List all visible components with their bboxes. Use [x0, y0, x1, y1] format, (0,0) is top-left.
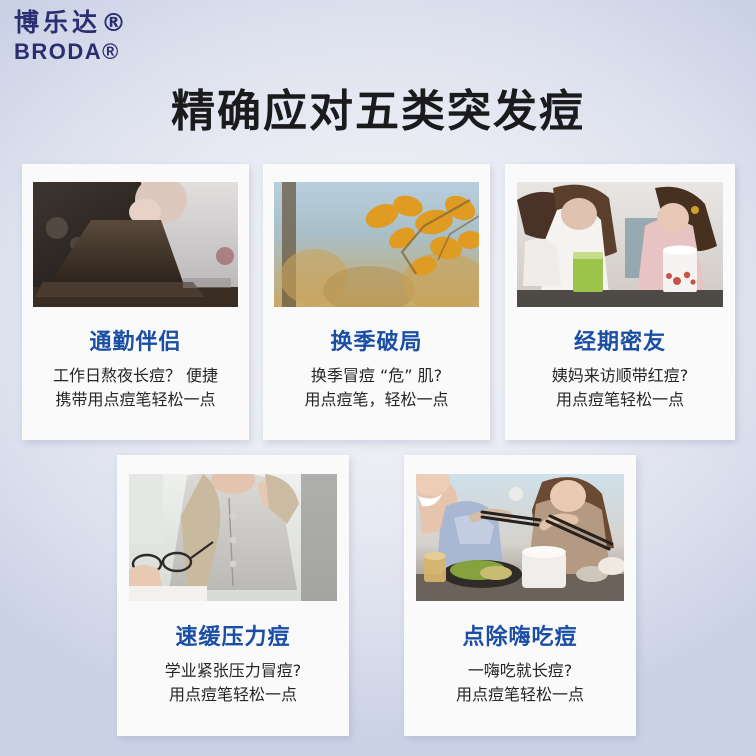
- feature-card-season-change: 换季破局 换季冒痘 “危” 肌? 用点痘笔，轻松一点: [263, 164, 490, 440]
- card-photo-eating: [416, 474, 624, 601]
- brand-logo-en-text: BRODA: [14, 38, 102, 66]
- card-photo-stress: [129, 474, 337, 601]
- brand-logo-en-row: BRODA®: [14, 38, 174, 66]
- brand-registered-mark-en: ®: [102, 38, 120, 66]
- card-title-commute: 通勤伴侣: [22, 324, 249, 356]
- friends-eating-hotpot-photo: [416, 474, 624, 601]
- card-desc-stress: 学业紧张压力冒痘? 用点痘笔轻松一点: [121, 659, 345, 707]
- brand-logo: 博乐达® BRODA®: [14, 8, 174, 74]
- card-desc-period: 姨妈来访顺带红痘? 用点痘笔轻松一点: [509, 364, 731, 412]
- feature-card-eating: 点除嗨吃痘 一嗨吃就长痘? 用点痘笔轻松一点: [404, 455, 636, 736]
- card-desc-eating: 一嗨吃就长痘? 用点痘笔轻松一点: [408, 659, 632, 707]
- autumn-yellow-leaves-photo: [274, 182, 479, 307]
- card-title-eating: 点除嗨吃痘: [404, 619, 636, 651]
- page-title: 精确应对五类突发痘: [0, 84, 756, 140]
- feature-card-period: 经期密友 姨妈来访顺带红痘? 用点痘笔轻松一点: [505, 164, 735, 440]
- card-title-season-change: 换季破局: [263, 324, 490, 356]
- card-photo-period: [517, 182, 723, 307]
- card-title-stress: 速缓压力痘: [117, 619, 349, 651]
- promo-poster: 博乐达® BRODA® 精确应对五类突发痘: [0, 0, 756, 756]
- card-photo-commute: [33, 182, 238, 307]
- feature-card-stress: 速缓压力痘 学业紧张压力冒痘? 用点痘笔轻松一点: [117, 455, 349, 736]
- card-photo-season-change: [274, 182, 479, 307]
- stressed-student-holding-glasses-photo: [129, 474, 337, 601]
- card-desc-commute: 工作日熬夜长痘？ 便捷 携带用点痘笔轻松一点: [26, 364, 245, 412]
- card-title-period: 经期密友: [505, 324, 735, 356]
- brand-logo-cn-row: 博乐达®: [14, 8, 174, 38]
- woman-at-laptop-night-photo: [33, 182, 238, 307]
- brand-registered-mark-cn: ®: [101, 8, 130, 38]
- brand-logo-cn-text: 博乐达: [14, 8, 101, 38]
- feature-card-commute: 通勤伴侣 工作日熬夜长痘？ 便捷 携带用点痘笔轻松一点: [22, 164, 249, 440]
- two-women-with-drinks-photo: [517, 182, 723, 307]
- card-desc-season-change: 换季冒痘 “危” 肌? 用点痘笔，轻松一点: [267, 364, 486, 412]
